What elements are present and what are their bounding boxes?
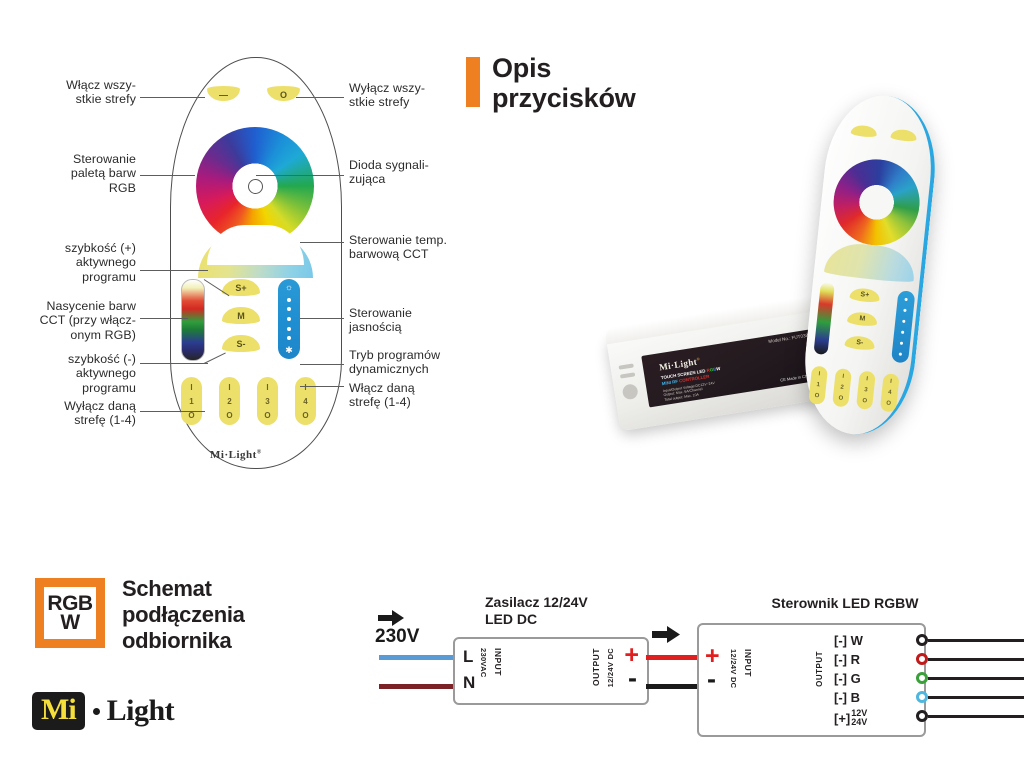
vent-slot (620, 372, 635, 378)
output-terminal-w (916, 634, 928, 646)
label-all-on: Włącz wszy- stkie strefy (20, 78, 136, 107)
sun-small-icon: ✱ (285, 346, 293, 355)
zone-on-glyph: I (190, 383, 192, 392)
brightness-bar[interactable]: ☼ ✱ (278, 279, 300, 359)
label-speed-plus: szybkość (+) aktywnego programu (18, 241, 136, 284)
leader-all-off (296, 97, 344, 98)
leader-dynamic-modes (300, 364, 344, 365)
photo-brightness-dot (904, 298, 907, 301)
wiring-diagram: 230V Zasilacz 12/24V LED DC L N 230VAC I… (370, 585, 1024, 745)
leader-zone-off (140, 411, 205, 412)
zone-off-glyph: O (264, 411, 270, 420)
schematic-heading: Schemat podłączenia odbiornika (122, 576, 352, 654)
milight-logo: Mi Light (32, 692, 174, 730)
button-speed-up-label: S+ (235, 283, 246, 293)
controller-input-dc: 12/24V DC (729, 649, 738, 688)
remote-diagram: — O S+ M S- ☼ ✱ (150, 57, 360, 477)
controller-model: Model No.: FUT038 (768, 333, 808, 344)
psu-input-vac: 230VAC (479, 648, 488, 678)
psu-terminal-n: N (463, 673, 475, 693)
milight-logo-badge: Mi (32, 692, 85, 730)
milight-logo-word: Light (107, 694, 175, 728)
zone-on-glyph: I (304, 383, 306, 392)
output-wire-g (928, 677, 1024, 680)
label-saturation: Nasycenie barw CCT (przy włącz- onym RGB… (10, 299, 136, 342)
label-cct: Sterowanie temp. barwową CCT (349, 233, 489, 262)
remote-brand-sup: ® (257, 449, 262, 455)
label-signal-led: Dioda sygnali- zująca (349, 158, 479, 187)
zone-button-2[interactable]: I 2 O (219, 377, 240, 425)
vent-hole (622, 383, 639, 400)
psu-title: Zasilacz 12/24V LED DC (485, 594, 685, 628)
leader-saturation (140, 318, 188, 319)
psu-output-dc: 12/24V DC (606, 648, 615, 687)
output-terminal-v (916, 710, 928, 722)
zone-number: 4 (303, 397, 307, 406)
zone-on-glyph: I (228, 383, 230, 392)
rgbw-badge-line2: W (60, 613, 79, 632)
rgbw-badge: RGB W (35, 578, 105, 648)
photo-brightness-dot (901, 331, 904, 334)
zone-off-glyph: O (302, 411, 308, 420)
label-zone-off: Wyłącz daną strefę (1-4) (20, 399, 136, 428)
terminal-label-r: [-] R (834, 652, 860, 667)
psu-output-word: OUTPUT (591, 648, 601, 686)
brightness-dot (287, 307, 291, 311)
poster-root: Opis przycisków — O S+ M S- ☼ (0, 0, 1024, 768)
product-photo: Mi·Light® Model No.: FUT038 TOUCH SCREEN… (600, 95, 1000, 475)
photo-brightness-dot (900, 342, 903, 345)
leader-speed-plus (140, 270, 208, 271)
controller-title: Sterownik LED RGBW (715, 595, 975, 612)
milight-logo-dot (93, 708, 100, 715)
psu-terminal-l: L (463, 647, 473, 667)
live-wire (379, 655, 453, 660)
zone-off-glyph: O (226, 411, 232, 420)
output-terminal-b (916, 691, 928, 703)
leader-all-on (140, 97, 205, 98)
zone-button-1[interactable]: I 1 O (181, 377, 202, 425)
page-title-line1: Opis (492, 53, 772, 83)
output-wire-w (928, 639, 1024, 642)
zone-button-4[interactable]: I 4 O (295, 377, 316, 425)
psu-output-minus: - (628, 665, 637, 692)
leader-zone-on (300, 386, 344, 387)
leader-speed-minus (140, 363, 208, 364)
label-all-off: Wyłącz wszy- stkie strefy (349, 81, 479, 110)
controller-output-word: OUTPUT (815, 651, 824, 687)
label-zone-on: Włącz daną strefę (1-4) (349, 381, 479, 410)
neutral-wire (379, 684, 453, 689)
mains-voltage-label: 230V (375, 626, 419, 648)
zone-number: 2 (227, 397, 231, 406)
mains-arrow-icon (378, 610, 404, 626)
controller-box: + - 12/24V DC INPUT OUTPUT [-] W [-] R [… (697, 623, 926, 737)
dc-arrow-icon (652, 626, 680, 643)
output-wire-b (928, 696, 1024, 699)
button-speed-down-label: S- (237, 339, 246, 349)
leader-brightness (300, 318, 344, 319)
sun-icon: ☼ (285, 283, 293, 292)
zone-number: 3 (265, 397, 269, 406)
signal-led (248, 179, 263, 194)
remote-photo: S+ M S- I1O I2O I3O I4O (798, 90, 943, 440)
button-all-on-label: — (219, 90, 228, 100)
zone-on-glyph: I (266, 383, 268, 392)
terminal-label-v: [+] 12V 24V (834, 709, 867, 727)
label-brightness: Sterowanie jasnością (349, 306, 479, 335)
brightness-dot (287, 317, 291, 321)
zone-button-3[interactable]: I 3 O (257, 377, 278, 425)
controller-vents (618, 363, 640, 407)
brightness-dot (287, 336, 291, 340)
zone-number: 1 (189, 397, 193, 406)
controller-input-word: INPUT (743, 649, 753, 677)
output-terminal-r (916, 653, 928, 665)
brightness-dot (287, 327, 291, 331)
photo-brightness-dot (899, 353, 902, 356)
button-all-off-label: O (280, 90, 287, 100)
photo-brightness-dot (903, 309, 906, 312)
psu-input-word: INPUT (493, 648, 503, 676)
leader-rgb-palette (140, 175, 195, 176)
output-wire-r (928, 658, 1024, 661)
label-rgb-palette: Sterowanie paletą barw RGB (18, 152, 136, 195)
leader-cct (300, 242, 344, 243)
label-dynamic-modes: Tryb programów dynamicznych (349, 348, 489, 377)
psu-box: L N 230VAC INPUT 12/24V DC OUTPUT + - (453, 637, 649, 705)
terminal-label-g: [-] G (834, 671, 861, 686)
button-mode-label: M (237, 311, 245, 321)
photo-brightness-dot (902, 320, 905, 323)
controller-input-minus: - (707, 666, 716, 693)
controller-label: Mi·Light® Model No.: FUT038 TOUCH SCREEN… (641, 329, 819, 407)
output-wire-v (928, 715, 1024, 718)
remote-brand-text: Mi·Light (210, 449, 257, 461)
remote-brand: Mi·Light® (210, 449, 262, 461)
saturation-bar[interactable] (181, 279, 205, 361)
label-speed-minus: szybkość (-) aktywnego programu (20, 352, 136, 395)
vent-slot (618, 363, 633, 369)
terminal-label-b: [-] B (834, 690, 860, 705)
output-terminal-g (916, 672, 928, 684)
leader-signal-led (256, 175, 344, 176)
brightness-dot (287, 298, 291, 302)
terminal-label-w: [-] W (834, 633, 863, 648)
